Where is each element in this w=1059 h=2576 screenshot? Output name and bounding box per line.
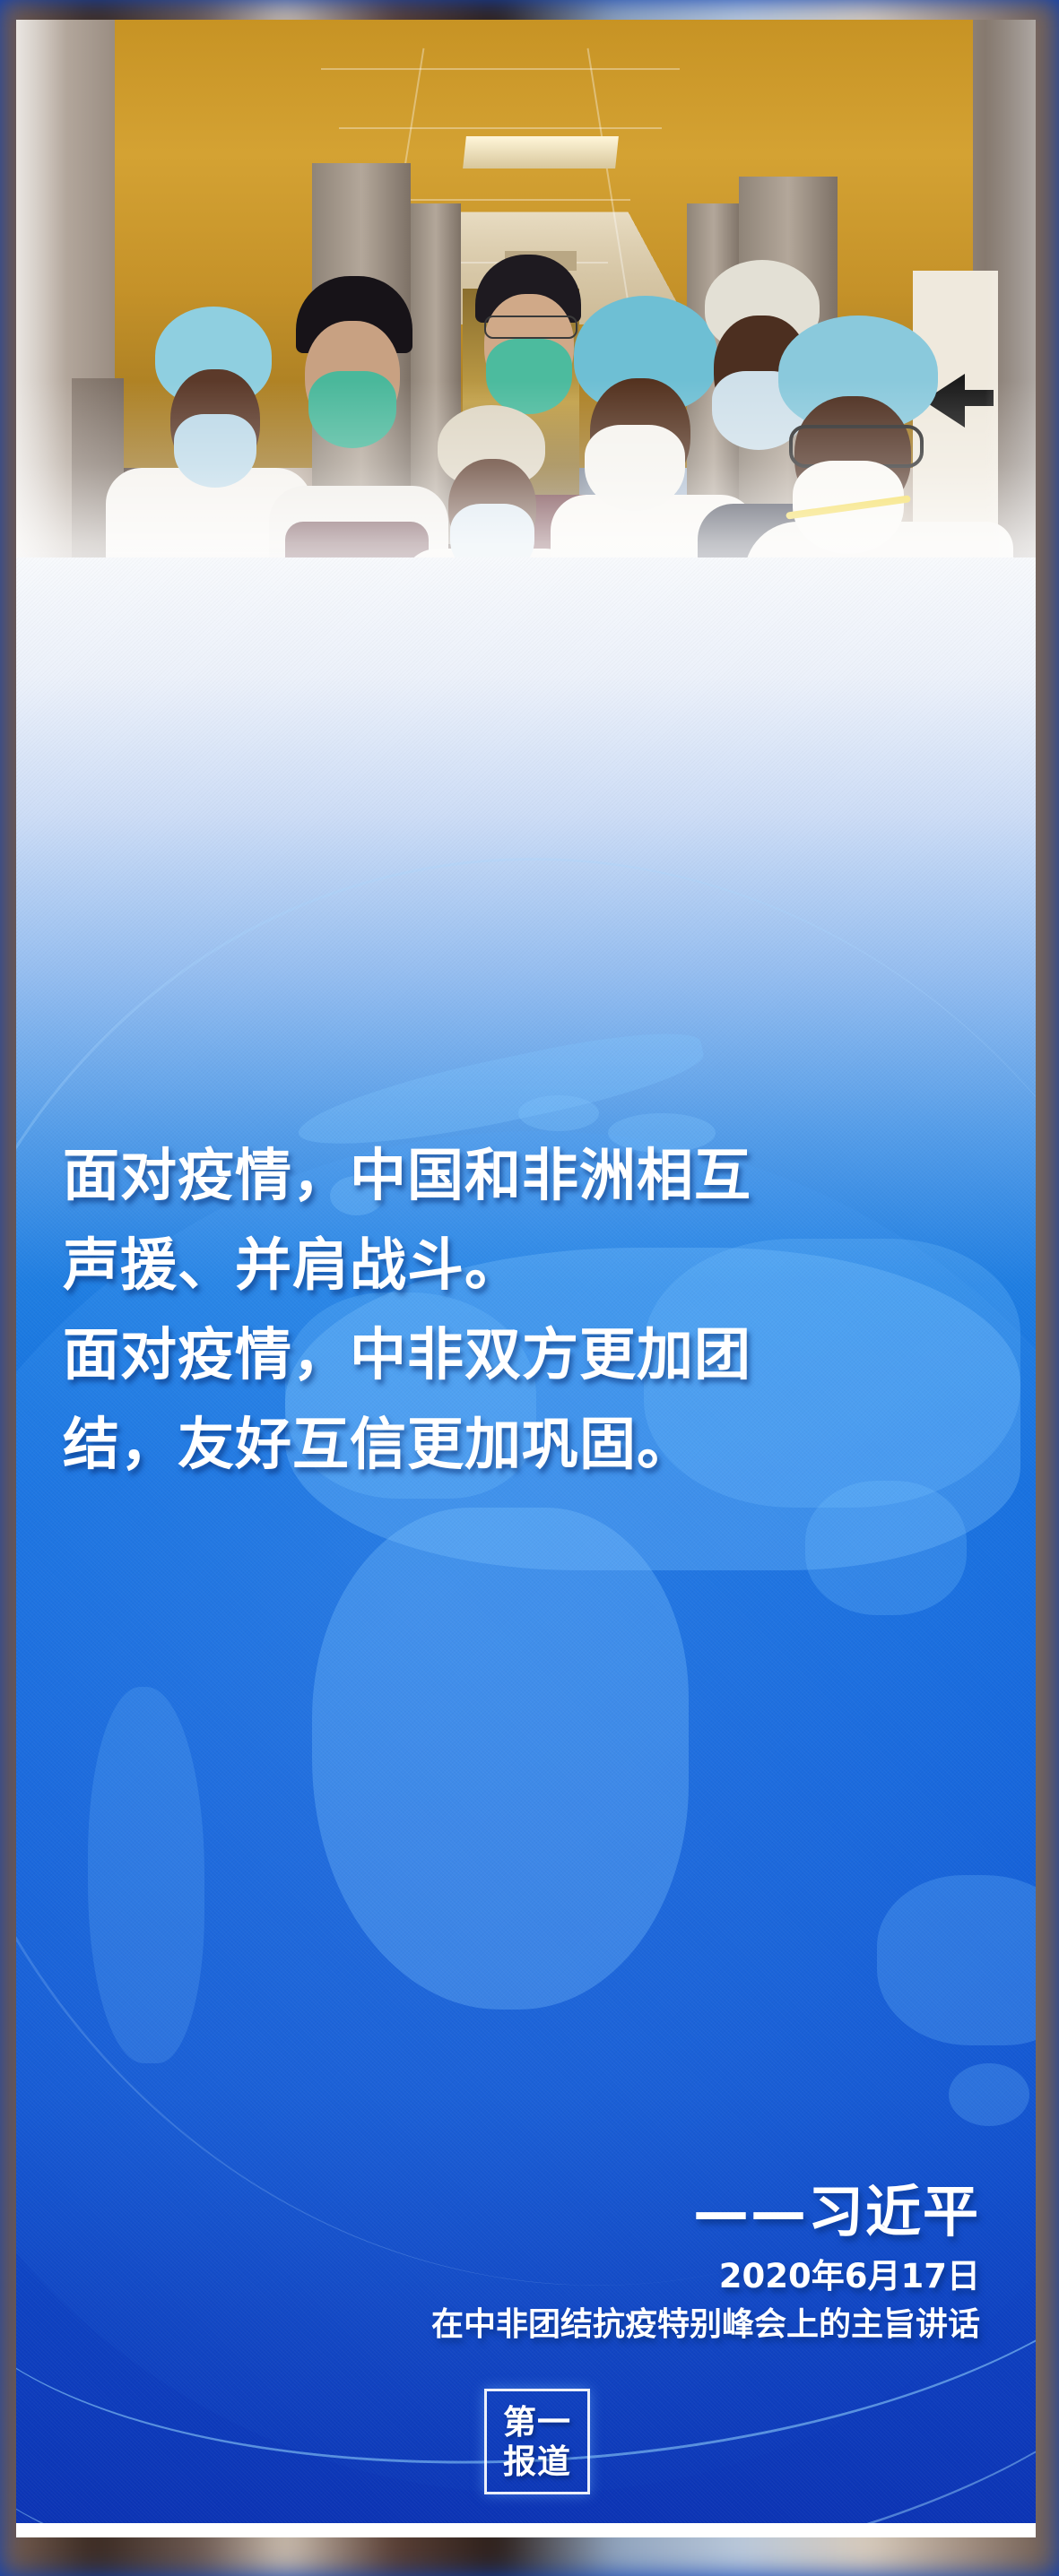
quote-text: 面对疫情，中国和非洲相互 声援、并肩战斗。 面对疫情，中非双方更加团 结，友好互… <box>63 1131 986 1490</box>
logo-line-2: 报道 <box>503 2442 571 2481</box>
poster: 面对疫情，中国和非洲相互 声援、并肩战斗。 面对疫情，中非双方更加团 结，友好互… <box>0 0 1059 2576</box>
attribution-block: ——习近平 2020年6月17日 在中非团结抗疫特别峰会上的主旨讲话 <box>431 2180 980 2348</box>
logo-line-1: 第一 <box>503 2402 571 2442</box>
bottom-white-strip <box>16 2523 1036 2537</box>
speech-date: 2020年6月17日 <box>431 2252 980 2302</box>
speech-occasion: 在中非团结抗疫特别峰会上的主旨讲话 <box>431 2302 980 2348</box>
brand-logo[interactable]: 第一 报道 <box>484 2389 590 2494</box>
speaker-name: ——习近平 <box>431 2180 980 2244</box>
poster-card: 面对疫情，中国和非洲相互 声援、并肩战斗。 面对疫情，中非双方更加团 结，友好互… <box>16 20 1036 2523</box>
blue-panel: 面对疫情，中国和非洲相互 声援、并肩战斗。 面对疫情，中非双方更加团 结，友好互… <box>16 558 1036 2523</box>
